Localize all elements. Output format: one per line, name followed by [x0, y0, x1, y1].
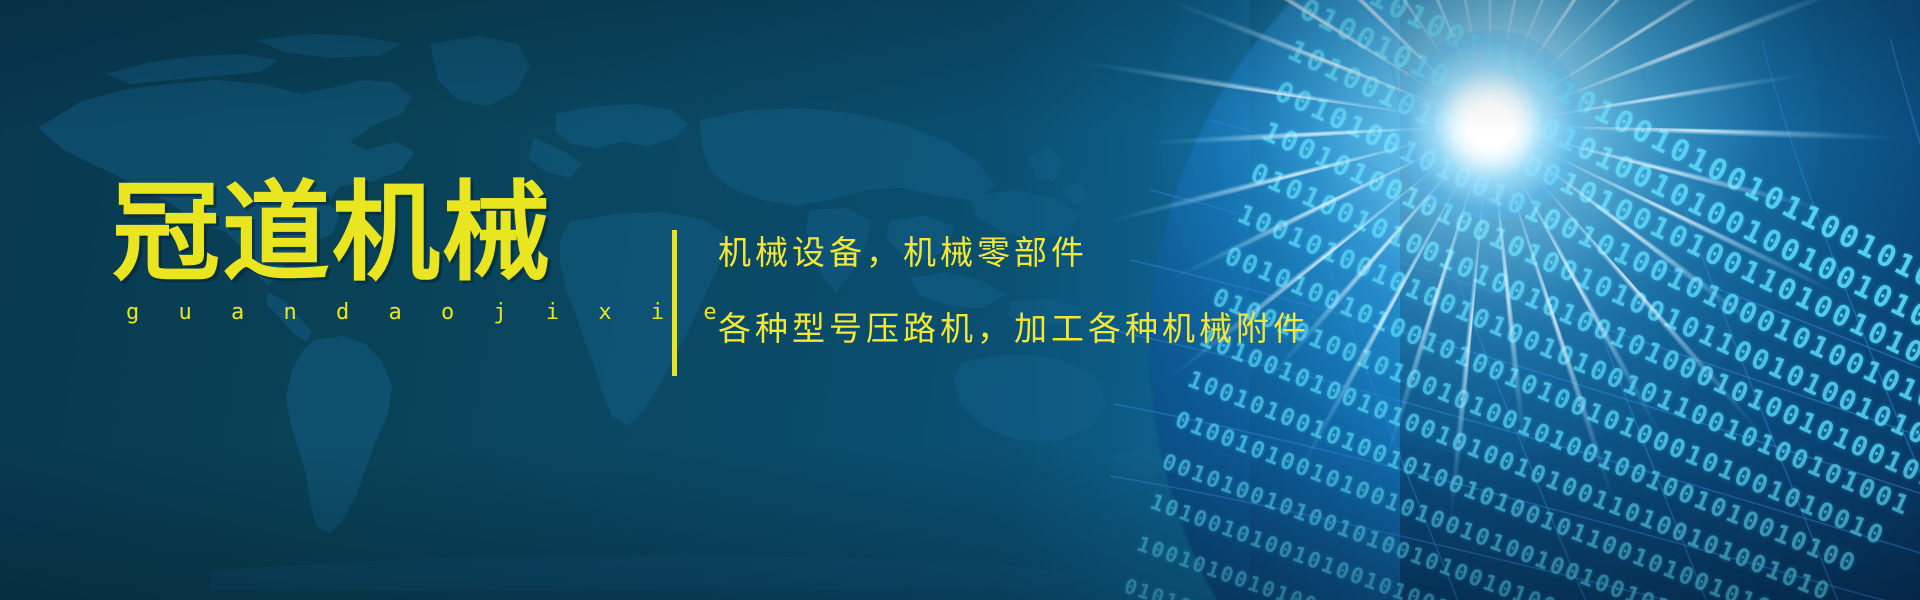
vertical-divider [672, 230, 677, 376]
promo-banner: 1001010010100101001010010110010100101001… [0, 0, 1920, 600]
sun-core [1395, 30, 1585, 220]
brand-name-cn: 冠道机械 [112, 178, 532, 290]
brand-logo[interactable]: 冠道机械 g u a n d a o j i x i e [112, 178, 532, 325]
tagline-line-1: 机械设备，机械零部件 [718, 236, 1310, 270]
brand-name-pinyin: g u a n d a o j i x i e [112, 300, 532, 325]
banner-content: 冠道机械 g u a n d a o j i x i e 机械设备，机械零部件 … [0, 0, 1250, 600]
tagline-group: 机械设备，机械零部件 各种型号压路机，加工各种机械附件 [718, 236, 1310, 346]
tagline-line-2: 各种型号压路机，加工各种机械附件 [718, 312, 1310, 346]
